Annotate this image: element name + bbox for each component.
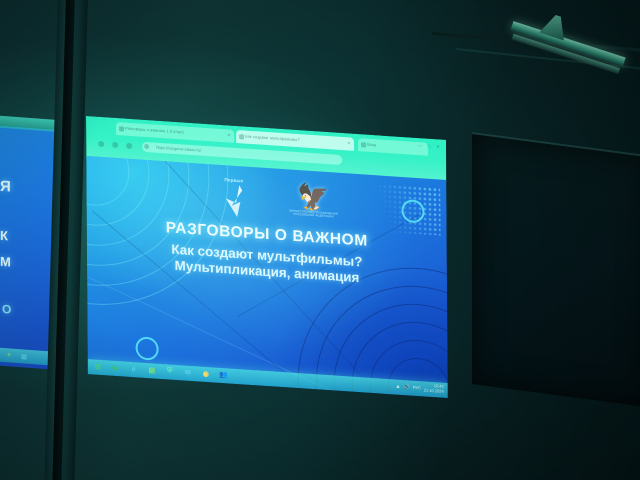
forward-arrow-icon[interactable]	[112, 142, 118, 148]
volume-icon[interactable]: 🔊	[403, 384, 409, 390]
browser-tab-1-title: Разговоры о важном 1.0 класс	[125, 126, 184, 135]
users-icon[interactable]: 👥	[218, 369, 230, 382]
classroom-projection-scene: Я К М О e ▤ Разговоры о важном 1.0 класс…	[0, 0, 640, 480]
spill-taskbar-icon-b: ▤	[19, 351, 29, 362]
address-bar-url: https://razgovor.edsoo.ru/	[156, 145, 201, 153]
clock[interactable]: 10:42 21.10.2024	[424, 383, 444, 393]
close-icon[interactable]: ✕	[347, 141, 351, 145]
clock-date: 21.10.2024	[424, 387, 444, 393]
tab-favicon	[361, 142, 366, 147]
back-arrow-icon[interactable]	[98, 141, 104, 147]
spill-taskbar-icon-a: e	[4, 350, 14, 361]
browser-tab-3-title: Вход	[367, 142, 376, 148]
browser-tab-2-title: Как создают мультфильмы?	[245, 134, 300, 143]
lock-icon	[144, 144, 149, 149]
reload-icon[interactable]	[126, 143, 132, 149]
double-headed-eagle-glyph: 🦅	[286, 182, 340, 212]
network-icon[interactable]: ▲	[395, 383, 400, 389]
pervye-arrow-mark	[224, 184, 248, 218]
mail-icon[interactable]: ✉	[182, 366, 194, 379]
ministry-caption: МИНИСТЕРСТВО ПРОСВЕЩЕНИЯ РОССИЙСКОЙ ФЕДЕ…	[287, 209, 341, 219]
media-player-icon[interactable]: ▶	[110, 362, 122, 375]
tab-favicon	[119, 126, 124, 131]
spill-letter-2: К	[0, 228, 8, 244]
classroom-blackboard	[472, 132, 640, 407]
mount-screw	[581, 28, 585, 32]
spill-letter-3: М	[0, 254, 11, 270]
russia-coat-of-arms-icon: 🦅 МИНИСТЕРСТВО ПРОСВЕЩЕНИЯ РОССИЙСКОЙ ФЕ…	[286, 182, 340, 226]
spill-letter-4: О	[2, 302, 11, 317]
internet-explorer-icon[interactable]: e	[128, 363, 140, 376]
browser-icon[interactable]: ◉	[200, 368, 212, 381]
antivirus-shield-icon[interactable]: ⛨	[164, 365, 176, 378]
pervye-arrow-logo: Первые	[218, 177, 260, 222]
language-indicator[interactable]: РУС	[413, 385, 421, 391]
close-icon[interactable]: ✕	[227, 133, 231, 137]
tab-favicon	[239, 134, 244, 139]
start-button[interactable]: ⊞	[92, 360, 104, 373]
spill-letter-1: Я	[0, 178, 11, 196]
projected-screen: Разговоры о важном 1.0 класс ✕ Как созда…	[86, 116, 448, 398]
pervye-logo-label: Первые	[224, 177, 243, 183]
decor-ring-bottom-left	[136, 336, 159, 361]
system-tray[interactable]: ▲ 🔊 РУС 10:42 21.10.2024	[395, 382, 443, 394]
file-explorer-icon[interactable]: ▤	[146, 364, 158, 377]
